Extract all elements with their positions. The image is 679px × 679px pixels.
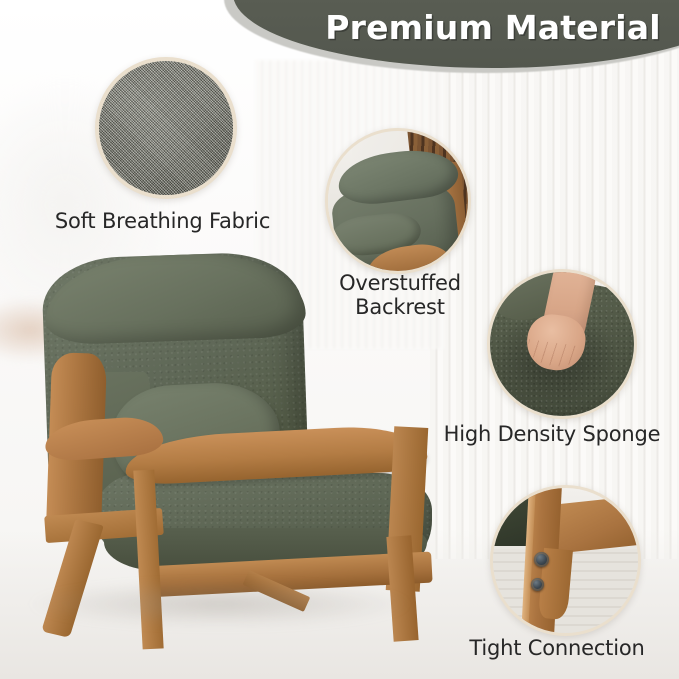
feature-image-soft-breathing-fabric — [95, 57, 237, 199]
connection-bolt-upper-icon — [534, 552, 549, 567]
feature-image-tight-connection — [490, 485, 641, 636]
chair-floor-shadow — [30, 581, 410, 627]
header-banner: Premium Material — [233, 0, 679, 68]
feature-image-overstuffed-backrest — [325, 128, 471, 274]
feature-label-tight-connection: Tight Connection — [435, 637, 679, 661]
connection-bolt-lower-icon — [531, 578, 544, 591]
connection-wood-rail — [552, 495, 641, 553]
backrest-scene — [328, 131, 468, 271]
feature-label-overstuffed-backrest: Overstuffed Backrest — [305, 272, 495, 319]
feature-image-high-density-sponge — [487, 269, 637, 419]
product-infographic: Premium Material Soft Breathing Fabric O… — [0, 0, 679, 679]
connection-scene — [493, 488, 638, 633]
page-title: Premium Material — [233, 8, 679, 47]
fabric-weave-texture — [99, 61, 233, 195]
sponge-scene — [490, 272, 634, 416]
feature-label-soft-breathing-fabric: Soft Breathing Fabric — [20, 210, 305, 234]
feature-label-high-density-sponge: High Density Sponge — [425, 423, 679, 447]
